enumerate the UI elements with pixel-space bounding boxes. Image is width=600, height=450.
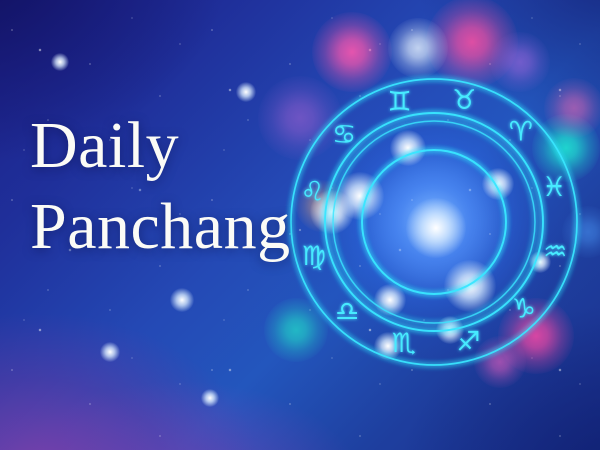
page-title: Daily Panchang <box>30 112 350 261</box>
page-title-line-1: Daily <box>30 112 350 179</box>
daily-panchang-banner: ♉♈♓♒♑♐♏♎♍♌♋♊ Daily Panchang <box>0 0 600 450</box>
page-title-line-2: Panchang <box>30 193 350 260</box>
